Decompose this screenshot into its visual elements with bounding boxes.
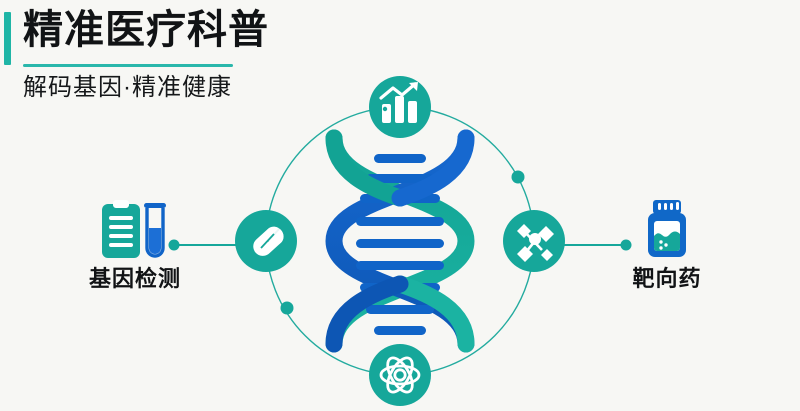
orbit-icon-bottom[interactable] (369, 344, 431, 406)
header-divider (23, 64, 233, 67)
center-diagram (230, 76, 570, 406)
clipboard-test-tube-icon (98, 198, 172, 260)
header-accent-bar (4, 12, 11, 65)
page-title: 精准医疗科普 (23, 10, 269, 50)
pill-bottle-icon (639, 198, 695, 260)
atom-icon-bg (369, 344, 431, 406)
orbit-icon-top[interactable] (369, 76, 431, 138)
orbit-icon-left[interactable] (235, 210, 297, 272)
item-targeted-drug-label: 靶向药 (592, 268, 742, 290)
orbit-dot-upper-right (512, 171, 525, 184)
item-targeted-drug[interactable]: 靶向药 (592, 198, 742, 290)
clipboard-icon (102, 200, 140, 258)
item-gene-testing-label: 基因检测 (60, 268, 210, 290)
orbit-dot-lower-left (281, 302, 294, 315)
infographic-canvas: 精准医疗科普 解码基因·精准健康 (0, 0, 800, 411)
dna-helix (334, 138, 466, 344)
item-gene-testing[interactable]: 基因检测 (60, 198, 210, 290)
test-tube-icon (144, 203, 166, 256)
page-subtitle: 解码基因·精准健康 (23, 76, 232, 100)
orbit-icon-right[interactable] (503, 210, 565, 272)
